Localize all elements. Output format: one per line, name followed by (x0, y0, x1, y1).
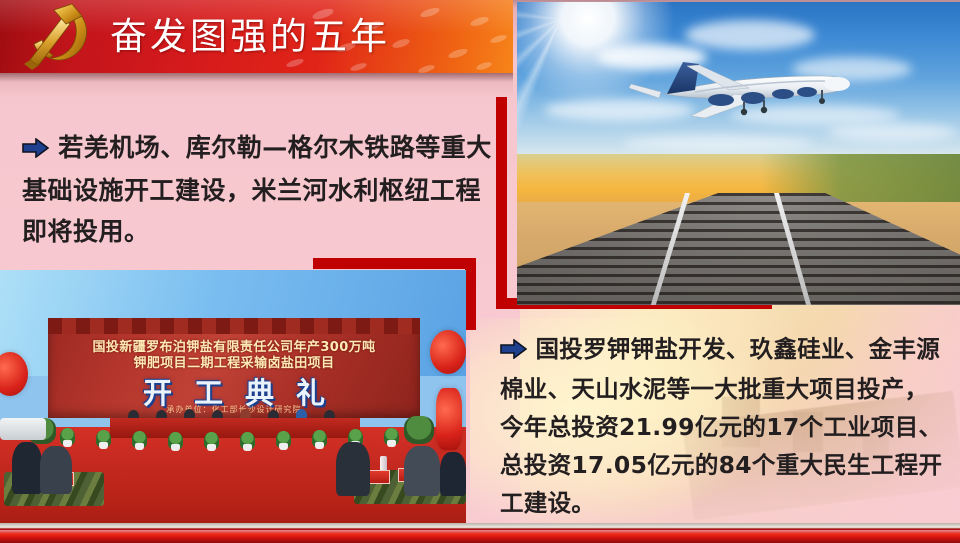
bullet-label-infrastructure: 若羌机场、库尔勒—格尔木铁路等重大基础设施开工建设，米兰河水利枢纽工程即将投用。 (22, 133, 492, 246)
ceremony-banner-line2: 钾肥项目二期工程采输卤盐田项目 (48, 352, 420, 371)
ceremony-banner: 国投新疆罗布泊钾盐有限责任公司年产300万吨 钾肥项目二期工程采输卤盐田项目 开… (48, 318, 420, 418)
airplane-photo-frame-left (496, 97, 507, 309)
ceremony-photo-frame-right (465, 258, 476, 330)
bullet-label-projects: 国投罗钾钾盐开发、玖鑫硅业、金丰源棉业、天山水泥等一大批重大项目投产，今年总投资… (500, 335, 942, 517)
red-lantern-icon (436, 388, 462, 450)
bullet-text-projects: 国投罗钾钾盐开发、玖鑫硅业、金丰源棉业、天山水泥等一大批重大项目投产，今年总投资… (500, 330, 952, 522)
banner-reflection (0, 73, 513, 99)
red-lantern-icon (430, 330, 466, 374)
bullet-text-infrastructure: 若羌机场、库尔勒—格尔木铁路等重大基础设施开工建设，米兰河水利枢纽工程即将投用。 (22, 127, 492, 252)
airplane-icon (625, 50, 865, 134)
groundbreaking-ceremony-photo: 国投新疆罗布泊钾盐有限责任公司年产300万吨 钾肥项目二期工程采输卤盐田项目 开… (0, 270, 466, 523)
ceremony-banner-sub: 承办单位：化工部长沙设计研究院 (48, 404, 420, 415)
blue-right-arrow-icon (22, 129, 49, 170)
blue-right-arrow-icon (500, 332, 527, 370)
footer-bar (0, 523, 960, 543)
ceremony-photo-frame-top (313, 258, 476, 269)
airplane-over-railway-photo (517, 2, 960, 305)
slide-canvas: 奋发图强的五年 (0, 0, 960, 543)
hammer-and-sickle-icon (12, 2, 102, 72)
page-title: 奋发图强的五年 (110, 10, 390, 63)
